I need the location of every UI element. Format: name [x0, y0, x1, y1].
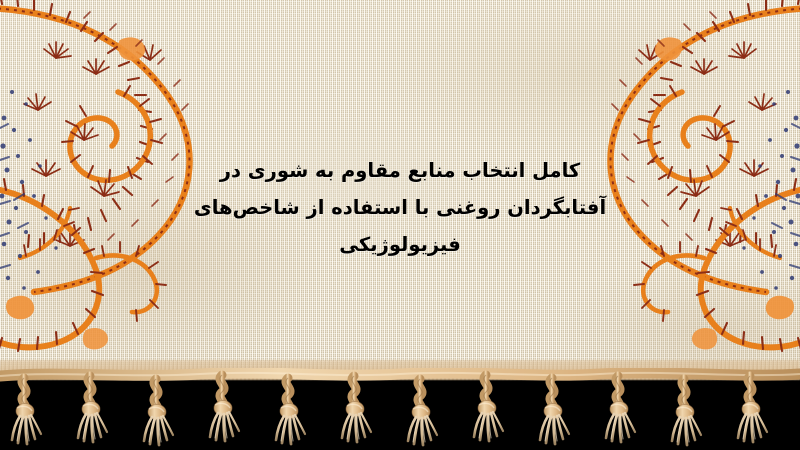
page-title: کامل انتخاب منابع مقاوم به شوری در آفتاب… [150, 152, 650, 263]
title-line-3: فیزیولوژیکی [150, 226, 650, 263]
title-line-1: کامل انتخاب منابع مقاوم به شوری در [150, 152, 650, 189]
tassel-fringe [0, 368, 800, 450]
title-card-image: کامل انتخاب منابع مقاوم به شوری در آفتاب… [0, 0, 800, 450]
title-line-2: آفتابگردان روغنی با استفاده از شاخص‌های [150, 189, 650, 226]
fabric-selvedge-edge [0, 360, 800, 380]
